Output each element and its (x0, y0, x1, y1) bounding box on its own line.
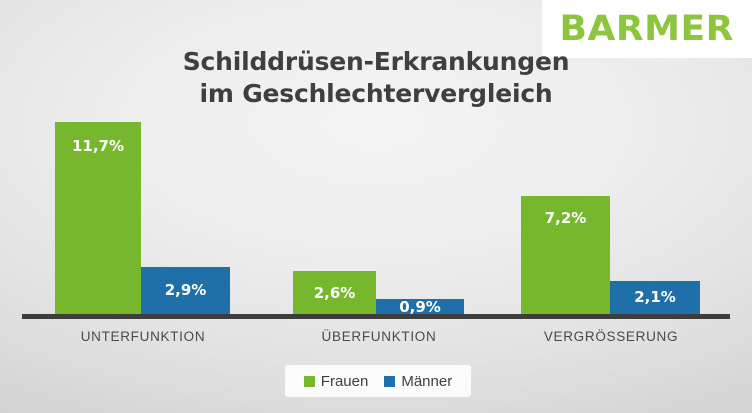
legend-item-maenner: Männer (384, 374, 452, 389)
bar-label-maenner-vergroesserung: 2,1% (610, 290, 700, 305)
legend-label-maenner: Männer (401, 374, 452, 389)
bar-label-frauen-unterfunktion: 11,7% (55, 139, 141, 154)
legend-swatch-maenner (384, 376, 395, 387)
plot-area: 11,7% 2,9% 2,6% 0,9% 7,2% 2,1% UNTERFUNK… (0, 0, 752, 413)
bar-label-maenner-unterfunktion: 2,9% (141, 283, 230, 298)
category-label-ueberfunktion: ÜBERFUNKTION (279, 329, 479, 344)
bar-label-maenner-ueberfunktion: 0,9% (376, 300, 464, 315)
chart-legend: Frauen Männer (285, 365, 471, 397)
bar-label-frauen-ueberfunktion: 2,6% (293, 286, 376, 301)
chart-canvas: BARMER Schilddrüsen-Erkrankungen im Gesc… (0, 0, 752, 413)
bar-label-frauen-vergroesserung: 7,2% (521, 211, 610, 226)
legend-item-frauen: Frauen (304, 374, 369, 389)
legend-swatch-frauen (304, 376, 315, 387)
category-label-unterfunktion: UNTERFUNKTION (43, 329, 243, 344)
x-axis-line (22, 314, 730, 319)
legend-label-frauen: Frauen (321, 374, 369, 389)
category-label-vergroesserung: VERGRÖSSERUNG (511, 329, 711, 344)
